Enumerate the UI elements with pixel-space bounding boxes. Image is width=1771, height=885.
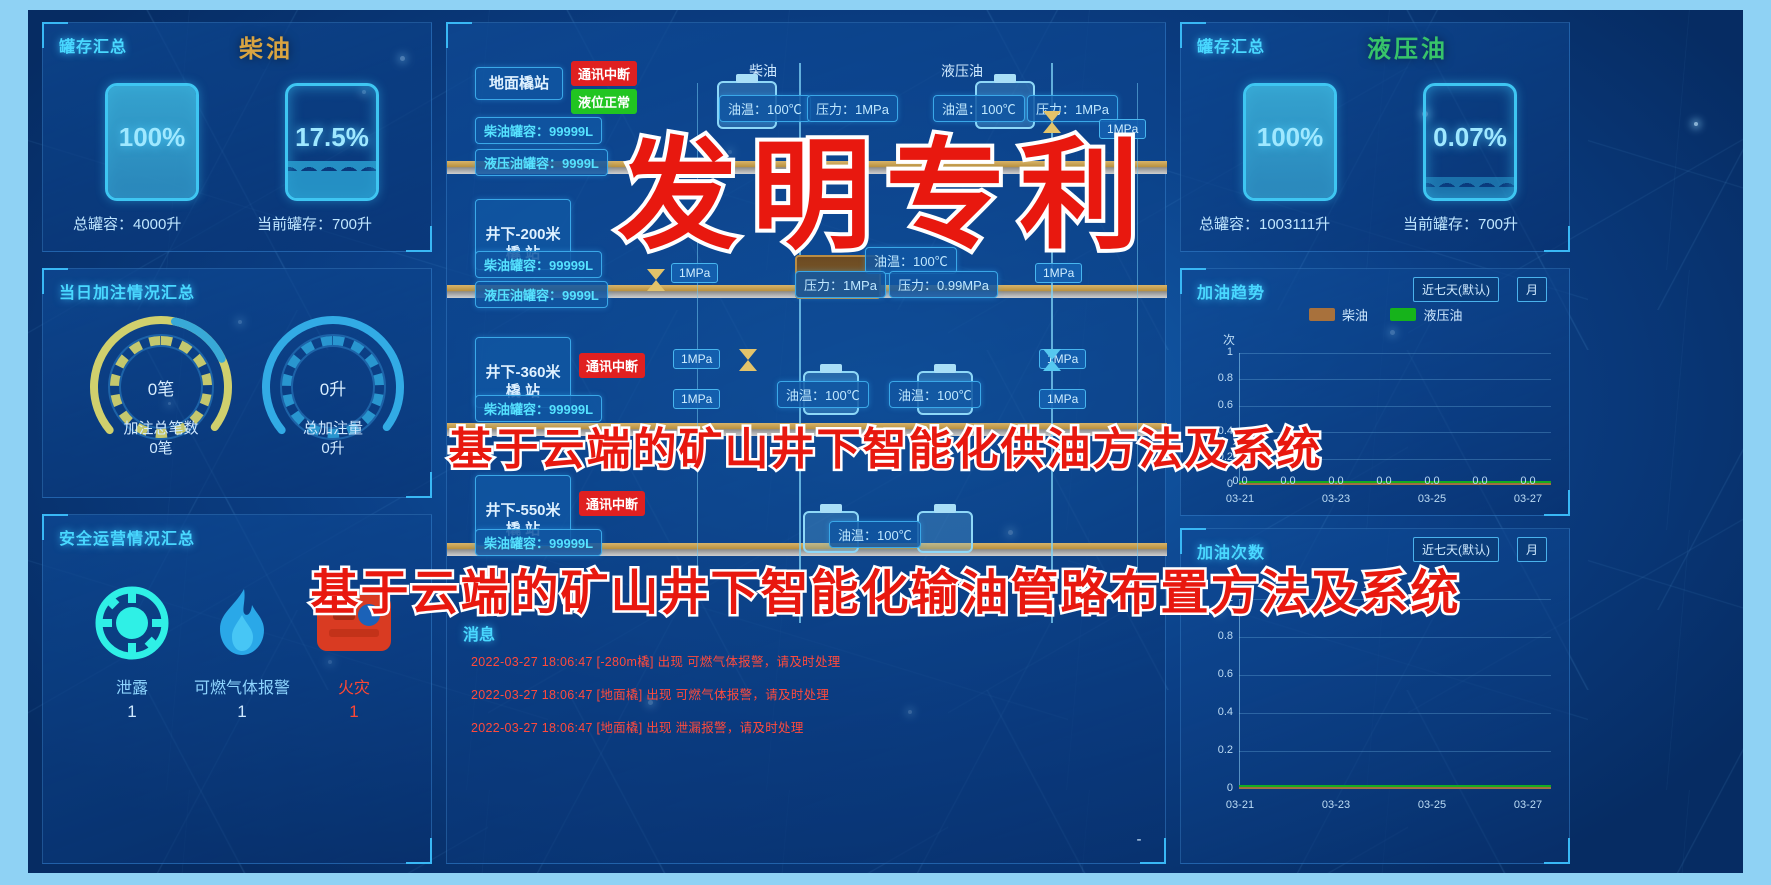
tank-cap [820,504,842,513]
messages-list[interactable]: 2022-03-27 18:06:47 [-280m橇] 出现 可燃气体报警，请… [471,651,1111,736]
y-tick: 0.8 [1207,372,1233,384]
leak-gear-icon [94,585,170,661]
watermark-patent-line-1: 基于云端的矿山井下智能化供油方法及系统 [449,413,1323,477]
outer-frame: 罐存汇总 柴油 100% 17.5% 总罐容：4000升 当前罐存：700升 当… [0,0,1771,885]
tank-cap [994,74,1016,83]
safety-label-fire-alarm: 火灾 [279,674,429,698]
meter-oil-temp-4: 油温：100℃ [777,381,869,408]
panel-title-fueling-summary: 当日加注情况汇总 [59,279,195,303]
corner-decoration [1544,838,1570,864]
y-tick: 0.8 [1207,630,1233,642]
gauge-total-capacity-hydraulic: 100% [1243,83,1337,201]
schematic-tank [917,511,973,553]
y-tick: 0.6 [1207,399,1233,411]
gridline [1239,637,1551,638]
watermark-title: 发明专利 [618,98,1154,272]
panel-refuel-trend-chart: 加油趋势 近七天(默认) 月 柴油 液压油 次 1 0.8 [1180,268,1570,516]
x-tick: 03-23 [1315,493,1357,505]
gridline [1239,675,1551,676]
station-name: 地面橇站 [489,75,549,92]
chart-plot-area-count [1239,599,1551,789]
wave-decoration [285,161,379,177]
label-total-capacity-hydraulic: 总罐容：1003111升 [1199,213,1330,234]
point-label: 0.0 [1363,475,1405,487]
product-label-hydraulic: 液压油 [1367,29,1448,64]
corner-decoration [1544,226,1570,252]
label-current-stock-hydraulic: 当前罐存：700升 [1403,213,1518,234]
gridline [1239,379,1551,380]
legend-label-hydraulic: 液压油 [1423,305,1462,324]
valve-bottom [739,360,757,371]
meter-pressure-4: 压力：0.99MPa [889,271,998,298]
station-label-ground[interactable]: 地面橇站 [475,67,563,100]
label-text: 加注总笔数 [123,420,198,437]
gauge-label-total-fueling-volume: 总加注量 0升 [233,419,433,459]
y-tick: 0 [1207,782,1233,794]
chart-title-refuel-trend: 加油趋势 [1197,279,1265,303]
point-label: 0.0 [1411,475,1453,487]
tank-fill [1426,187,1514,198]
minimize-button[interactable]: - [1131,835,1147,851]
tank-cap [820,364,842,373]
gridline [1239,713,1551,714]
x-tick: 03-27 [1507,799,1549,811]
valve-top [1043,349,1061,360]
gauge-value-current-diesel: 17.5% [288,122,376,153]
gridline [1239,406,1551,407]
wave-decoration [1423,177,1517,193]
series-line-diesel [1239,787,1551,789]
station-tank-diesel-ground: 柴油罐容：99999L [475,117,602,144]
tank-cap [934,364,956,373]
meter-oil-temp-6: 油温：100℃ [829,521,921,548]
safety-value-fire-alarm: 1 [279,702,429,722]
y-tick: 0.2 [1207,744,1233,756]
gauge-label-total-fueling-count: 加注总笔数 0笔 [61,419,261,459]
message-line: 2022-03-27 18:06:47 [地面橇] 出现 泄漏报警，请及时处理 [471,717,1111,736]
legend-item-hydraulic[interactable]: 液压油 [1390,305,1462,324]
x-tick: 03-23 [1315,799,1357,811]
legend-item-diesel[interactable]: 柴油 [1309,305,1368,324]
y-tick: 0.6 [1207,668,1233,680]
message-line: 2022-03-27 18:06:47 [-280m橇] 出现 可燃气体报警，请… [471,651,1111,670]
corner-decoration [406,226,432,252]
corner-decoration [406,838,432,864]
panel-tank-summary-diesel: 罐存汇总 柴油 100% 17.5% 总罐容：4000升 当前罐存：700升 [42,22,432,252]
pressure-tag: 1MPa [673,349,720,369]
x-tick: 03-27 [1507,493,1549,505]
legend-label-diesel: 柴油 [1342,305,1368,324]
label-subvalue: 0升 [321,440,344,457]
label-text: 总加注量 [303,420,363,437]
y-tick: 1 [1207,346,1233,358]
filter-button-month-count[interactable]: 月 [1517,537,1547,562]
label-total-capacity-diesel: 总罐容：4000升 [73,213,181,234]
messages-title: 消息 [463,621,495,645]
label-subvalue: 0笔 [149,440,172,457]
tank-fill [288,171,376,198]
legend-swatch-diesel [1309,308,1335,321]
panel-title-tank-summary-left: 罐存汇总 [59,33,127,57]
corner-decoration [446,22,472,48]
panel-tank-summary-hydraulic: 罐存汇总 液压油 100% 0.07% 总罐容：1003111升 当前罐存：70… [1180,22,1570,252]
station-badge-comm-error-360m: 通讯中断 [579,353,645,378]
gauge-current-stock-hydraulic: 0.07% [1423,83,1517,201]
filter-button-week-trend[interactable]: 近七天(默认) [1413,277,1499,302]
product-header-hydraulic: 液压油 [941,61,983,81]
valve-top [739,349,757,360]
pressure-tag: 1MPa [1039,389,1086,409]
chart-legend-trend: 柴油 液压油 [1309,305,1480,326]
valve-bottom [1043,360,1061,371]
x-tick: 03-25 [1411,799,1453,811]
gridline [1239,353,1551,354]
gauge-value-total-hydraulic: 100% [1246,122,1334,153]
y-tick: 0.4 [1207,706,1233,718]
panel-title-safety-summary: 安全运营情况汇总 [59,525,195,549]
panel-fueling-summary: 当日加注情况汇总 0笔 加注总笔数 0笔 [42,268,432,498]
gauge-current-stock-diesel: 17.5% [285,83,379,201]
tank-cap [736,74,758,83]
legend-swatch-hydraulic [1390,308,1416,321]
filter-button-month-trend[interactable]: 月 [1517,277,1547,302]
watermark-patent-line-2: 基于云端的矿山井下智能化输油管路布置方法及系统 [310,553,1460,623]
dashboard-screen: 罐存汇总 柴油 100% 17.5% 总罐容：4000升 当前罐存：700升 当… [28,10,1743,873]
station-tank-diesel-200m: 柴油罐容：99999L [475,251,602,278]
product-label-diesel: 柴油 [239,29,293,64]
pressure-tag: 1MPa [673,389,720,409]
station-badge-comm-error-ground: 通讯中断 [571,61,637,86]
point-label: 0.0 [1459,475,1501,487]
station-tank-hydraulic-200m: 液压油罐容：9999L [475,281,608,308]
series-line-hydraulic [1239,785,1551,787]
message-line: 2022-03-27 18:06:47 [地面橇] 出现 可燃气体报警，请及时处… [471,684,1111,703]
station-tank-diesel-550m: 柴油罐容：99999L [475,529,602,556]
panel-title-tank-summary-right: 罐存汇总 [1197,33,1265,57]
flame-icon [204,585,280,661]
gauge-value-total-diesel: 100% [108,122,196,153]
valve-bottom [647,280,665,291]
meter-oil-temp-5: 油温：100℃ [889,381,981,408]
meter-pressure-3: 压力：1MPa [795,271,886,298]
gauge-value-current-hydraulic: 0.07% [1426,122,1514,153]
y-axis [1239,599,1240,789]
station-tank-hydraulic-ground: 液压油罐容：9999L [475,149,608,176]
station-badge-comm-error-550m: 通讯中断 [579,491,645,516]
x-tick: 03-21 [1219,493,1261,505]
label-current-stock-diesel: 当前罐存：700升 [257,213,372,234]
point-label: 0.0 [1507,475,1549,487]
gauge-total-capacity-diesel: 100% [105,83,199,201]
corner-decoration [406,472,432,498]
x-tick: 03-21 [1219,799,1261,811]
x-tick: 03-25 [1411,493,1453,505]
tank-cap [934,504,956,513]
gridline [1239,751,1551,752]
